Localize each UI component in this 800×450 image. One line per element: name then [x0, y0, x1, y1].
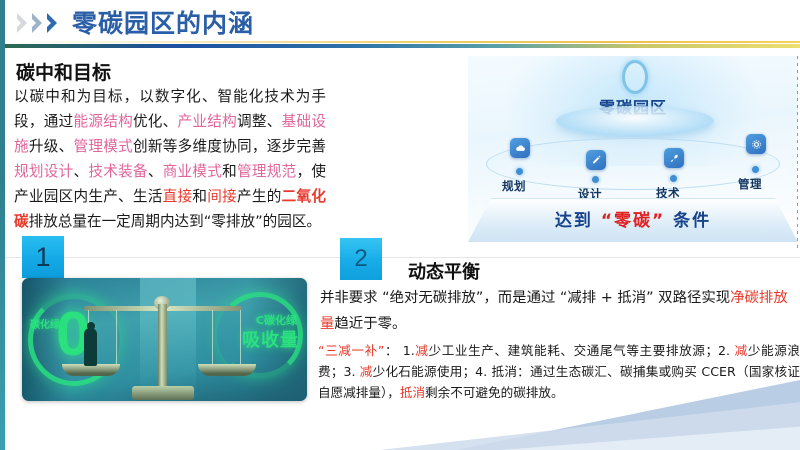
left-edge-stripe [0, 0, 5, 450]
text-run: 能源结构 [73, 113, 132, 130]
scale-wire-r1 [212, 310, 213, 366]
picture-center-glow [140, 278, 196, 401]
pillar-dot-2 [592, 176, 599, 183]
text-run: 管理模式 [73, 138, 132, 155]
pillar-label-management: 管理 [738, 176, 762, 192]
diagram-base-ellipse [486, 138, 780, 190]
chevron-right-icon-2 [31, 12, 45, 34]
text-run: 少工业生产、建筑能耗、交通尾气等主要排放源；2. [429, 343, 735, 358]
text-run: 、 [148, 163, 163, 180]
zero-carbon-banner-text: 达到 “零碳” 条件 [468, 206, 798, 231]
section-a-title: 碳中和目标 [16, 58, 111, 85]
text-run: 技术装备 [88, 163, 147, 180]
scale-post [158, 304, 167, 390]
person-silhouette [84, 328, 97, 366]
text-run: “三减一补” [318, 343, 384, 358]
text-run: 减 [415, 343, 429, 358]
section-a-body: 以碳中和为目标，以数字化、智能化技术为手段，通过能源结构优化、产业结构调整、基础… [14, 84, 326, 234]
scale-wire-l2 [116, 310, 117, 366]
text-run: 间接 [207, 188, 237, 205]
text-run: 减 [360, 364, 373, 379]
text-run: 升级、 [29, 138, 74, 155]
banner-red: “零碳” [601, 211, 665, 231]
text-run: 创新等多维度协同，逐步完善 [133, 138, 326, 155]
scale-wire-r2 [240, 310, 241, 366]
text-run: 趋近于零。 [334, 316, 406, 332]
text-run: 和 [222, 163, 237, 180]
section-divider [0, 257, 800, 258]
scale-pan-right [198, 364, 256, 376]
text-run: 直接 [163, 188, 193, 205]
section-b-title: 动态平衡 [408, 258, 480, 284]
text-run: 排放总量在一定周期内达到“零排放”的园区。 [29, 213, 321, 230]
pillar-dot-1 [516, 168, 523, 175]
chevron-right-icon-1 [16, 12, 30, 34]
section-b-paragraph-1: 并非要求 “绝对无碳排放”，而是通过 “减排 + 抵消” 双路径实现净碳排放量趋… [320, 285, 798, 337]
text-run: 和 [192, 188, 207, 205]
header-rule-gradient [0, 44, 800, 48]
banner-pre: 达到 [555, 211, 601, 231]
left-green-label: 碳化绿 [30, 316, 60, 331]
text-run: 优化、 [133, 113, 178, 130]
gear-icon [746, 134, 766, 154]
text-run: 调整、 [237, 113, 282, 130]
text-run: 产业结构 [178, 113, 237, 130]
text-run: 管理规范 [237, 163, 296, 180]
cloud-icon [510, 138, 530, 158]
diagram-ring-icon [622, 60, 648, 94]
text-run: 并非要求 “绝对无碳排放”，而是通过 “减排 + 抵消” 双路径实现 [320, 290, 730, 306]
pillar-label-planning: 规划 [502, 178, 526, 194]
text-run: 减 [735, 343, 748, 358]
header-rule-gold [0, 41, 800, 43]
text-run: 规划设计 [14, 163, 73, 180]
text-run: 剩余不可避免的碳排放。 [425, 385, 564, 400]
wrench-icon [664, 148, 684, 168]
banner-post: 条件 [665, 211, 711, 231]
section-b-paragraph-2: “三减一补”： 1.减少工业生产、建筑能耗、交通尾气等主要排放源；2. 减少能源… [318, 340, 800, 403]
chevron-right-icon-3 [46, 12, 60, 34]
scale-base [132, 386, 194, 400]
badge-number-1: 1 [22, 236, 64, 278]
pillar-dot-4 [752, 166, 759, 173]
right-green-label-2: 吸收量 [242, 326, 299, 352]
text-run: 抵消 [400, 385, 425, 400]
carbon-balance-scale-image: 0 碳化绿 C碳化绿 吸收量 [22, 278, 307, 401]
pillar-dot-3 [670, 175, 677, 182]
chevron-group [16, 12, 60, 34]
text-run: ： 1. [384, 343, 414, 358]
pencil-icon [586, 150, 606, 170]
badge-number-2: 2 [340, 238, 382, 280]
page-title: 零碳园区的内涵 [72, 4, 254, 40]
slide-header: 零碳园区的内涵 [0, 0, 800, 52]
text-run: 产生的 [237, 188, 282, 205]
text-run: 商业模式 [163, 163, 222, 180]
diagram-disc [556, 106, 714, 136]
text-run: 、 [73, 163, 88, 180]
